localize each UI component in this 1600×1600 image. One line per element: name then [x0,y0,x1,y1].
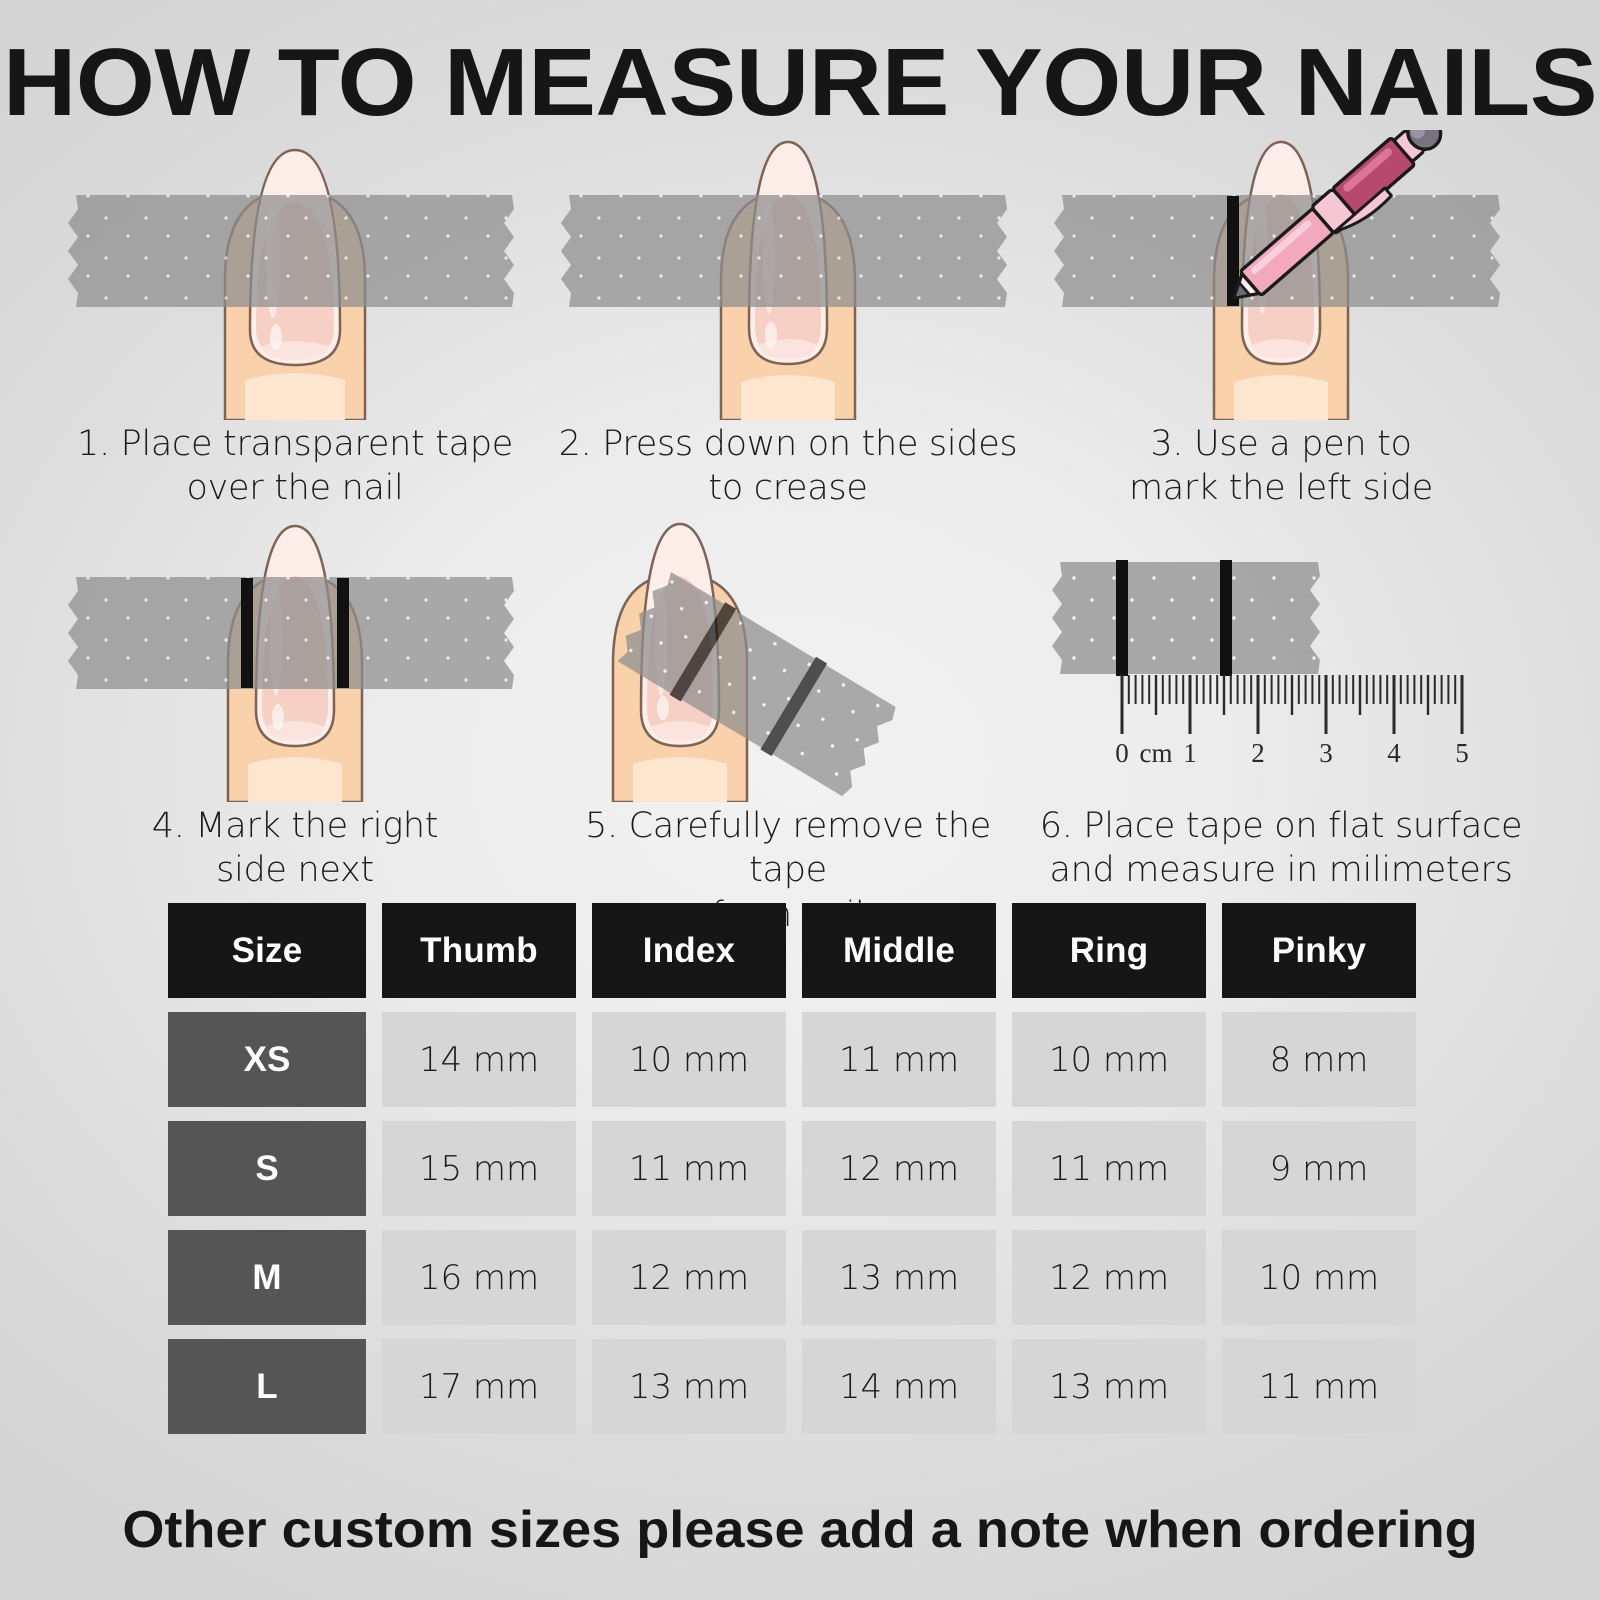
step-2-illustration [553,130,1023,420]
tape-strip-flat [1052,562,1320,674]
step-2-caption-line2: to crease [553,466,1023,510]
step-4-illustration [60,512,530,802]
cell-xs-middle: 11 mm [802,1012,996,1107]
step-1-caption-line1: 1. Place transparent tape [60,422,530,466]
knuckle-highlight [633,757,727,802]
table-row: XS 14 mm 10 mm 11 mm 10 mm 8 mm [168,1012,1440,1107]
table-row: M 16 mm 12 mm 13 mm 12 mm 10 mm [168,1230,1440,1325]
cell-m-ring: 12 mm [1012,1230,1206,1325]
tape-strip [68,195,514,307]
table-header-ring: Ring [1012,903,1206,998]
cell-s-pinky: 9 mm [1222,1121,1416,1216]
cell-l-thumb: 17 mm [382,1339,576,1434]
cell-l-ring: 13 mm [1012,1339,1206,1434]
cell-xs-index: 10 mm [592,1012,786,1107]
ruler [1122,675,1462,734]
ruler-label-0: 0 [1115,738,1129,768]
ruler-label-cm: cm [1140,738,1173,768]
step-4-caption: 4. Mark the right side next [60,804,530,893]
knuckle-highlight [741,375,835,420]
table-header-middle: Middle [802,903,996,998]
step-6-caption-line2: and measure in milimeters [1031,848,1531,892]
ruler-labels: 0 cm 1 2 3 4 5 [1115,738,1469,768]
table-header-row: Size Thumb Index Middle Ring Pinky [168,903,1440,998]
tape-strip [561,195,1007,307]
step-4-caption-line2: side next [60,848,530,892]
right-mark [337,578,349,688]
cell-l-middle: 14 mm [802,1339,996,1434]
cell-m-index: 12 mm [592,1230,786,1325]
infographic-page: HOW TO MEASURE YOUR NAILS [0,0,1600,1600]
cell-s-middle: 12 mm [802,1121,996,1216]
knuckle-highlight [245,373,345,420]
step-1-caption-line2: over the nail [60,466,530,510]
knuckle-highlight [1234,375,1328,420]
step-5-caption-line1: 5. Carefully remove the tape [553,804,1023,893]
ruler-label-4: 4 [1387,738,1401,768]
table-header-pinky: Pinky [1222,903,1416,998]
ruler-label-5: 5 [1455,738,1469,768]
step-6-caption-line1: 6. Place tape on flat surface [1031,804,1531,848]
step-3-caption-line1: 3. Use a pen to [1046,422,1516,466]
step-2-caption-line1: 2. Press down on the sides [553,422,1023,466]
step-3-caption: 3. Use a pen to mark the left side [1046,422,1516,511]
size-label-l: L [168,1339,366,1434]
table-header-index: Index [592,903,786,998]
cell-m-thumb: 16 mm [382,1230,576,1325]
ruler-label-3: 3 [1319,738,1333,768]
ruler-label-1: 1 [1183,738,1197,768]
table-header-thumb: Thumb [382,903,576,998]
step-6-illustration: 0 cm 1 2 3 4 5 [1046,512,1516,802]
size-label-xs: XS [168,1012,366,1107]
step-5-illustration [553,512,1023,802]
size-chart-table: Size Thumb Index Middle Ring Pinky XS 14… [168,903,1440,1434]
nail-gloss-dot [765,322,777,348]
size-label-s: S [168,1121,366,1216]
knuckle-highlight [248,757,342,802]
table-row: L 17 mm 13 mm 14 mm 13 mm 11 mm [168,1339,1440,1434]
table-header-size: Size [168,903,366,998]
nail-gloss-dot [270,324,282,350]
step-4-caption-line1: 4. Mark the right [60,804,530,848]
step-3-illustration [1046,130,1516,420]
cell-m-pinky: 10 mm [1222,1230,1416,1325]
cell-s-ring: 11 mm [1012,1121,1206,1216]
step-2-caption: 2. Press down on the sides to crease [553,422,1023,511]
footer-note: Other custom sizes please add a note whe… [0,1500,1600,1560]
step-6-caption: 6. Place tape on flat surface and measur… [1031,804,1531,893]
tape-strip [68,577,514,689]
step-3-caption-line2: mark the left side [1046,466,1516,510]
cell-xs-thumb: 14 mm [382,1012,576,1107]
cell-l-pinky: 11 mm [1222,1339,1416,1434]
cell-xs-ring: 10 mm [1012,1012,1206,1107]
cell-m-middle: 13 mm [802,1230,996,1325]
nail-gloss-dot [657,696,669,720]
nail-gloss-dot [272,704,284,730]
cell-s-index: 11 mm [592,1121,786,1216]
step-1-illustration [60,130,530,420]
cell-xs-pinky: 8 mm [1222,1012,1416,1107]
step-1-caption: 1. Place transparent tape over the nail [60,422,530,511]
cell-l-index: 13 mm [592,1339,786,1434]
table-row: S 15 mm 11 mm 12 mm 11 mm 9 mm [168,1121,1440,1216]
page-title: HOW TO MEASURE YOUR NAILS [0,28,1600,138]
ruler-label-2: 2 [1251,738,1265,768]
left-mark [1116,560,1128,676]
right-mark [1220,560,1232,676]
cell-s-thumb: 15 mm [382,1121,576,1216]
left-mark [241,578,253,688]
size-label-m: M [168,1230,366,1325]
